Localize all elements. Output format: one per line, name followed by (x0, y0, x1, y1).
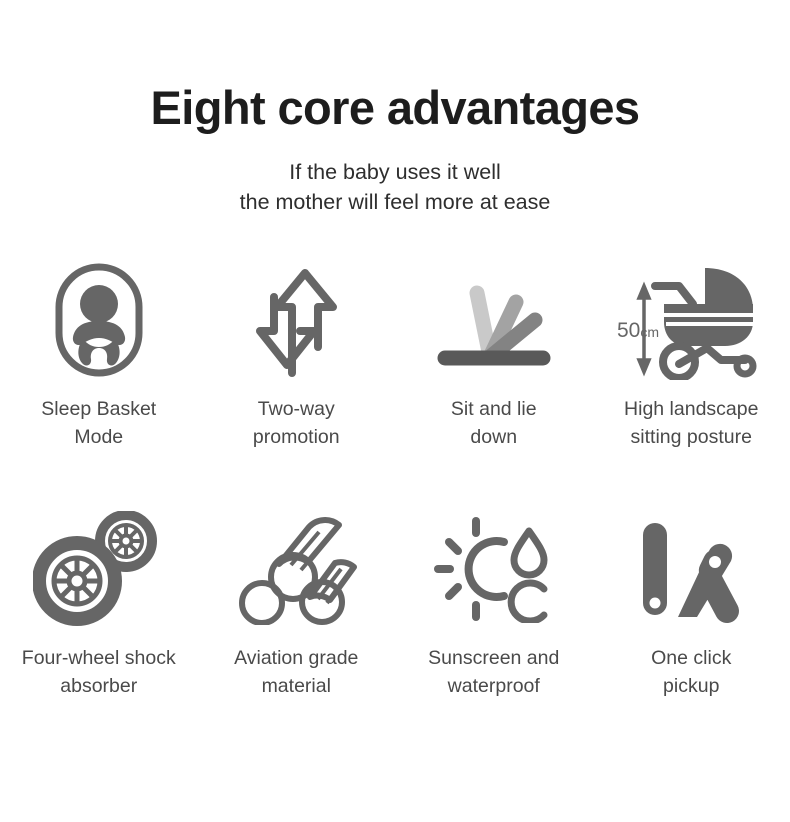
icon-container (432, 509, 556, 629)
label-line-1: Sleep Basket (41, 396, 156, 424)
feature-infographic-page: Eight core advantages If the baby uses i… (0, 0, 790, 822)
icon-container (248, 260, 344, 380)
stacked-tubes-icon (235, 513, 357, 625)
subtitle-line-2: the mother will feel more at ease (0, 187, 790, 218)
label-line-1: Sit and lie (451, 396, 537, 424)
feature-item-one-click-pickup: One click pickup (593, 509, 790, 700)
icon-container (235, 509, 357, 629)
label-line-2: sitting posture (624, 424, 758, 452)
stroller-height-icon: 50cm (617, 260, 765, 380)
feature-label: Four-wheel shock absorber (22, 645, 176, 700)
label-line-2: absorber (22, 673, 176, 701)
label-line-1: Four-wheel shock (22, 645, 176, 673)
label-line-2: down (451, 424, 537, 452)
height-annotation-value: 50cm (617, 319, 659, 342)
header-section: Eight core advantages If the baby uses i… (0, 0, 790, 218)
feature-label: Sunscreen and waterproof (428, 645, 559, 700)
feature-label: One click pickup (651, 645, 731, 700)
icon-container (53, 260, 145, 380)
page-subtitle: If the baby uses it well the mother will… (0, 157, 790, 218)
label-line-2: promotion (253, 424, 340, 452)
label-line-2: material (234, 673, 358, 701)
label-line-1: High landscape (624, 396, 758, 424)
icon-container (33, 509, 165, 629)
folding-frame-icon (633, 513, 749, 625)
feature-label: Sleep Basket Mode (41, 396, 156, 451)
icon-container (633, 509, 749, 629)
two-way-arrows-icon (248, 261, 344, 379)
recline-fan-icon (433, 265, 555, 375)
sun-waterdrop-icon (432, 515, 556, 623)
label-line-1: Two-way (253, 396, 340, 424)
baby-sleep-basket-icon (53, 261, 145, 379)
label-line-1: One click (651, 645, 731, 673)
label-line-2: waterproof (428, 673, 559, 701)
feature-item-aviation-material: Aviation grade material (198, 509, 396, 700)
page-title: Eight core advantages (0, 82, 790, 135)
feature-item-high-landscape: 50cm (593, 260, 790, 451)
feature-label: Sit and lie down (451, 396, 537, 451)
feature-item-recline: Sit and lie down (395, 260, 593, 451)
feature-grid-row-2: Four-wheel shock absorber (0, 509, 790, 700)
feature-item-sunscreen-waterproof: Sunscreen and waterproof (395, 509, 593, 700)
feature-label: Two-way promotion (253, 396, 340, 451)
label-line-1: Aviation grade (234, 645, 358, 673)
label-line-2: Mode (41, 424, 156, 452)
feature-label: High landscape sitting posture (624, 396, 758, 451)
feature-grid-row-1: Sleep Basket Mode Two-way promotion (0, 260, 790, 451)
icon-container: 50cm (617, 260, 765, 380)
label-line-2: pickup (651, 673, 731, 701)
icon-container (433, 260, 555, 380)
feature-item-four-wheel: Four-wheel shock absorber (0, 509, 198, 700)
subtitle-line-1: If the baby uses it well (0, 157, 790, 188)
feature-item-sleep-basket: Sleep Basket Mode (0, 260, 198, 451)
feature-item-two-way: Two-way promotion (198, 260, 396, 451)
feature-label: Aviation grade material (234, 645, 358, 700)
label-line-1: Sunscreen and (428, 645, 559, 673)
two-wheels-icon (33, 511, 165, 627)
